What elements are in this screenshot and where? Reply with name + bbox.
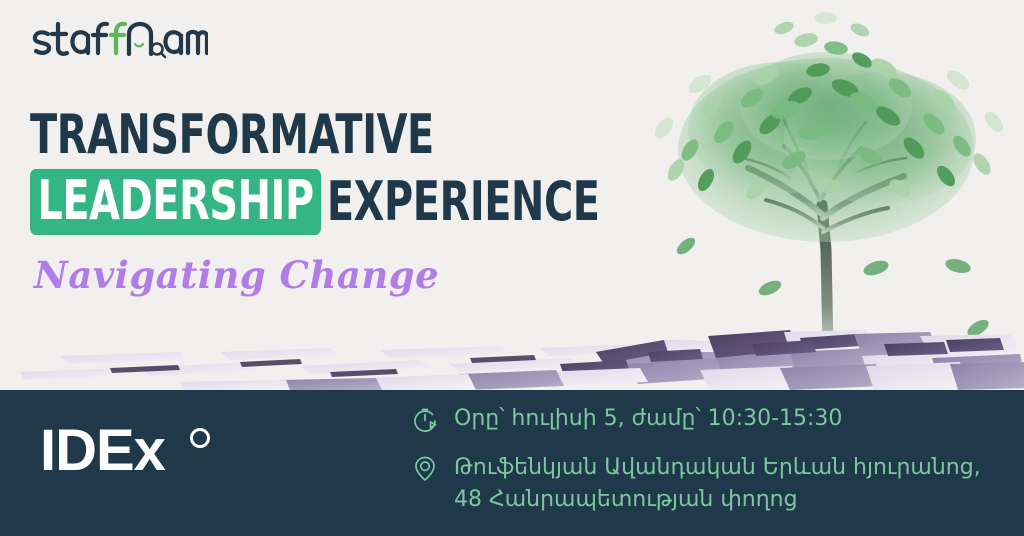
banner-upper-section: TRANSFORMATIVE LEADERSHIPEXPERIENCE Navi… — [0, 0, 1024, 390]
headline-line-1: TRANSFORMATIVE — [30, 108, 538, 162]
event-date-text: Օրը՝ հուլիսի 5, ժամը՝ 10:30-15:30 — [454, 404, 842, 434]
event-banner: TRANSFORMATIVE LEADERSHIPEXPERIENCE Navi… — [0, 0, 1024, 536]
headline-subtitle: Navigating Change — [34, 253, 439, 297]
location-pin-icon — [410, 454, 440, 484]
staff-am-logo-icon — [28, 18, 208, 64]
event-date-row: Օրը՝ հուլիսի 5, ժամը՝ 10:30-15:30 — [410, 404, 842, 436]
headline-word-experience: EXPERIENCE — [321, 175, 600, 229]
stopwatch-icon — [410, 406, 440, 436]
event-location-text: Թուֆենկյան Ավանդական Երևան հյուրանոց, 48… — [454, 452, 981, 516]
headline-line-2: LEADERSHIPEXPERIENCE — [30, 169, 538, 235]
event-location-row: Թուֆենկյան Ավանդական Երևան հյուրանոց, 48… — [410, 452, 1010, 516]
staff-am-logo[interactable] — [28, 18, 208, 64]
idex-logo[interactable]: IDEx — [40, 422, 230, 502]
headline-highlight-leadership: LEADERSHIP — [30, 169, 321, 235]
event-location-line-2: 48 Հանրապետության փողոց — [454, 487, 798, 512]
headline-block: TRANSFORMATIVE LEADERSHIPEXPERIENCE — [30, 108, 650, 235]
circle-outline-icon — [190, 428, 210, 448]
event-location-line-1: Թուֆենկյան Ավանդական Երևան հյուրանոց, — [454, 455, 981, 480]
